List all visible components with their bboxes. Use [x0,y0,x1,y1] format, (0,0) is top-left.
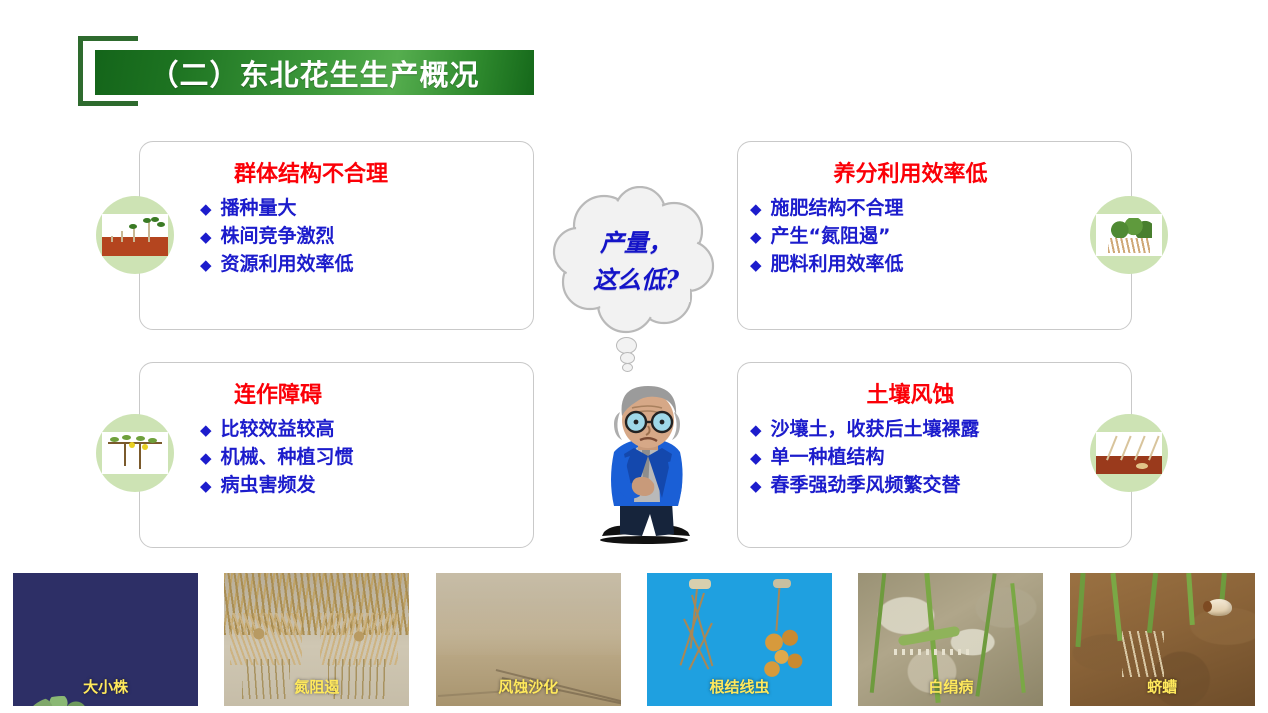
photo-label: 风蚀沙化 [436,676,621,697]
list-item-label: 机械、种植习惯 [221,443,354,471]
peg-penetrating-soil-icon [1090,414,1168,492]
diamond-bullet-icon: ◆ [200,254,212,276]
photo-label: 蛴螬 [1070,676,1255,697]
photo-cell: 白绢病 [845,566,1056,713]
card-content: 群体结构不合理 ◆播种量大 ◆株间竞争激烈 ◆资源利用效率低 [200,156,521,319]
peanut-germination-icon [96,196,174,274]
diamond-bullet-icon: ◆ [200,198,212,220]
diamond-bullet-icon: ◆ [200,226,212,248]
thought-bubble-text: 产量， 这么低? [552,224,720,298]
list-item: ◆病虫害频发 [200,471,521,499]
diamond-bullet-icon: ◆ [750,475,762,497]
thumbnail-image [1096,214,1162,256]
photo-label: 氮阻遏 [224,676,409,697]
photo-strip: 大小株 氮阻遏 风蚀沙化 [0,566,1268,713]
list-item-label: 资源利用效率低 [221,250,354,278]
list-item-label: 春季强劲季风频繁交替 [771,471,961,499]
thought-tail-bubble-small [622,363,633,372]
photo-cell: 氮阻遏 [211,566,422,713]
list-item: ◆播种量大 [200,194,521,222]
list-item-label: 单一种植结构 [771,443,885,471]
issue-card-crowding: 群体结构不合理 ◆播种量大 ◆株间竞争激烈 ◆资源利用效率低 [139,141,534,330]
thinking-man-illustration [578,382,718,552]
list-item: ◆比较效益较高 [200,415,521,443]
card-content: 土壤风蚀 ◆沙壤土，收获后土壤裸露 ◆单一种植结构 ◆春季强劲季风频繁交替 [750,377,1071,537]
list-item-label: 比较效益较高 [221,415,335,443]
list-item-label: 株间竞争激烈 [221,222,335,250]
diamond-bullet-icon: ◆ [200,475,212,497]
list-item-label: 产生“氮阻遏” [771,222,891,250]
photo-grub-pest: 蛴螬 [1070,573,1255,706]
thumbnail-image [1096,432,1162,474]
card-bullet-list: ◆比较效益较高 ◆机械、种植习惯 ◆病虫害频发 [200,415,521,499]
thumbnail-image [102,214,168,256]
card-heading: 土壤风蚀 [750,377,1071,409]
photo-nitrogen-inhibition: 氮阻遏 [224,573,409,706]
list-item: ◆沙壤土，收获后土壤裸露 [750,415,1071,443]
list-item: ◆机械、种植习惯 [200,443,521,471]
diamond-bullet-icon: ◆ [200,419,212,441]
list-item: ◆单一种植结构 [750,443,1071,471]
photo-label: 根结线虫 [647,676,832,697]
list-item-label: 施肥结构不合理 [771,194,904,222]
photo-cell: 大小株 [0,566,211,713]
list-item-label: 沙壤土，收获后土壤裸露 [771,415,980,443]
list-item-label: 肥料利用效率低 [771,250,904,278]
diamond-bullet-icon: ◆ [750,447,762,469]
photo-label: 大小株 [13,676,198,697]
card-bullet-list: ◆沙壤土，收获后土壤裸露 ◆单一种植结构 ◆春季强劲季风频繁交替 [750,415,1071,499]
diamond-bullet-icon: ◆ [750,254,762,276]
list-item: ◆施肥结构不合理 [750,194,1071,222]
thumbnail-image [102,432,168,474]
list-item: ◆肥料利用效率低 [750,250,1071,278]
diamond-bullet-icon: ◆ [750,226,762,248]
card-heading: 养分利用效率低 [750,156,1071,188]
card-content: 养分利用效率低 ◆施肥结构不合理 ◆产生“氮阻遏” ◆肥料利用效率低 [750,156,1071,319]
diamond-bullet-icon: ◆ [750,198,762,220]
photo-cell: 根结线虫 [634,566,845,713]
card-content: 连作障碍 ◆比较效益较高 ◆机械、种植习惯 ◆病虫害频发 [200,377,521,537]
card-heading: 连作障碍 [200,377,521,409]
list-item: ◆资源利用效率低 [200,250,521,278]
photo-cell: 风蚀沙化 [423,566,634,713]
list-item-label: 病虫害频发 [221,471,316,499]
peanut-plant-roots-icon [1090,196,1168,274]
list-item: ◆株间竞争激烈 [200,222,521,250]
photo-root-knot-nematode: 根结线虫 [647,573,832,706]
card-bullet-list: ◆播种量大 ◆株间竞争激烈 ◆资源利用效率低 [200,194,521,278]
page-title: （二）东北花生生产概况 [149,52,479,94]
thought-bubble: 产量， 这么低? [552,186,720,334]
diamond-bullet-icon: ◆ [750,419,762,441]
photo-white-mold-disease: 白绢病 [858,573,1043,706]
photo-label: 白绢病 [858,676,1043,697]
issue-card-nutrient-efficiency: 养分利用效率低 ◆施肥结构不合理 ◆产生“氮阻遏” ◆肥料利用效率低 [737,141,1132,330]
thought-line-2: 这么低? [552,261,720,298]
photo-cell: 蛴螬 [1056,566,1267,713]
photo-uneven-plants: 大小株 [13,573,198,706]
diamond-bullet-icon: ◆ [200,447,212,469]
issue-card-continuous-cropping: 连作障碍 ◆比较效益较高 ◆机械、种植习惯 ◆病虫害频发 [139,362,534,548]
slide-title-bar: （二）东北花生生产概况 [95,50,534,95]
peanut-flowering-vine-icon [96,414,174,492]
thought-line-1: 产量， [552,224,720,261]
list-item-label: 播种量大 [221,194,297,222]
list-item: ◆春季强劲季风频繁交替 [750,471,1071,499]
list-item: ◆产生“氮阻遏” [750,222,1071,250]
card-bullet-list: ◆施肥结构不合理 ◆产生“氮阻遏” ◆肥料利用效率低 [750,194,1071,278]
card-heading: 群体结构不合理 [200,156,521,188]
photo-wind-erosion: 风蚀沙化 [436,573,621,706]
issue-card-soil-erosion: 土壤风蚀 ◆沙壤土，收获后土壤裸露 ◆单一种植结构 ◆春季强劲季风频繁交替 [737,362,1132,548]
